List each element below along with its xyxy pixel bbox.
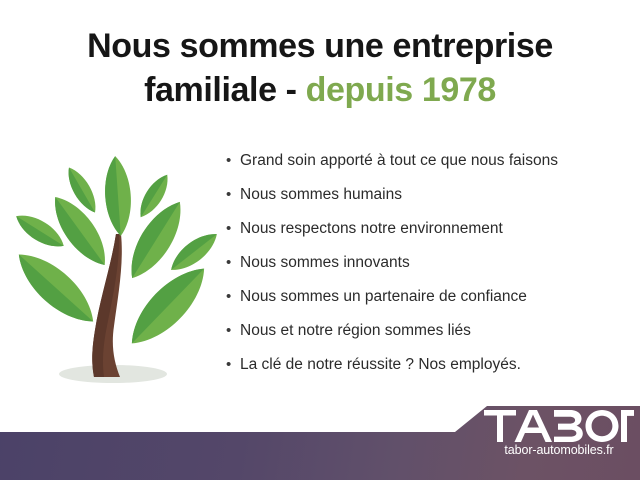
bullet-marker-icon: • [226, 184, 240, 206]
list-item-label: La clé de notre réussite ? Nos employés. [240, 354, 521, 376]
list-item-label: Nous sommes humains [240, 184, 402, 206]
slide-canvas: Nous sommes une entreprise familiale - d… [0, 0, 640, 480]
list-item-label: Nous respectons notre environnement [240, 218, 503, 240]
title-dash: - [286, 71, 297, 109]
bullet-marker-icon: • [226, 150, 240, 172]
list-item: • Nous et notre région sommes liés [226, 320, 626, 354]
bullet-marker-icon: • [226, 218, 240, 240]
bullet-marker-icon: • [226, 252, 240, 274]
list-item: • Nous respectons notre environnement [226, 218, 626, 252]
title-accent-year: depuis 1978 [306, 71, 496, 109]
page-title: Nous sommes une entreprise familiale - d… [0, 26, 640, 110]
list-item-label: Grand soin apporté à tout ce que nous fa… [240, 150, 558, 172]
value-list: • Grand soin apporté à tout ce que nous … [226, 150, 626, 388]
bullet-marker-icon: • [226, 354, 240, 376]
bullet-marker-icon: • [226, 320, 240, 342]
list-item: • Nous sommes humains [226, 184, 626, 218]
list-item-label: Nous sommes un partenaire de confiance [240, 286, 527, 308]
list-item: • Grand soin apporté à tout ce que nous … [226, 150, 626, 184]
list-item-label: Nous sommes innovants [240, 252, 410, 274]
logo-tagline: tabor-automobiles.fr [484, 443, 634, 457]
list-item: • La clé de notre réussite ? Nos employé… [226, 354, 626, 388]
title-line-1: Nous sommes une entreprise [0, 26, 640, 66]
tree-icon [8, 148, 223, 393]
list-item-label: Nous et notre région sommes liés [240, 320, 471, 342]
brand-logo[interactable]: tabor-automobiles.fr [484, 410, 636, 457]
title-line-2-prefix: familiale [144, 71, 276, 109]
title-line-2: familiale - depuis 1978 [0, 70, 640, 110]
bullet-marker-icon: • [226, 286, 240, 308]
list-item: • Nous sommes un partenaire de confiance [226, 286, 626, 320]
list-item: • Nous sommes innovants [226, 252, 626, 286]
tabor-wordmark-icon [484, 410, 634, 442]
tree-illustration [8, 148, 223, 393]
